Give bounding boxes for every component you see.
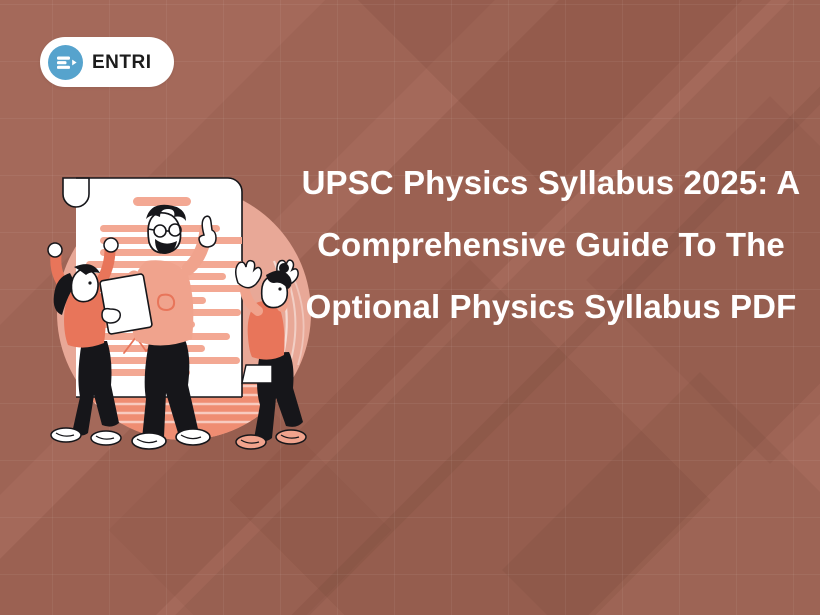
entri-e-play-icon (48, 45, 83, 80)
page-title: UPSC Physics Syllabus 2025: A Comprehens… (282, 152, 820, 338)
entri-wordmark: ENTRI (92, 53, 152, 72)
entri-logo[interactable]: ENTRI (40, 37, 174, 87)
background-chevron-wedge (502, 372, 820, 615)
banner-root: ENTRI UPSC Physics Syllabus 2025: A Comp… (0, 0, 820, 615)
clipboard (100, 274, 153, 335)
